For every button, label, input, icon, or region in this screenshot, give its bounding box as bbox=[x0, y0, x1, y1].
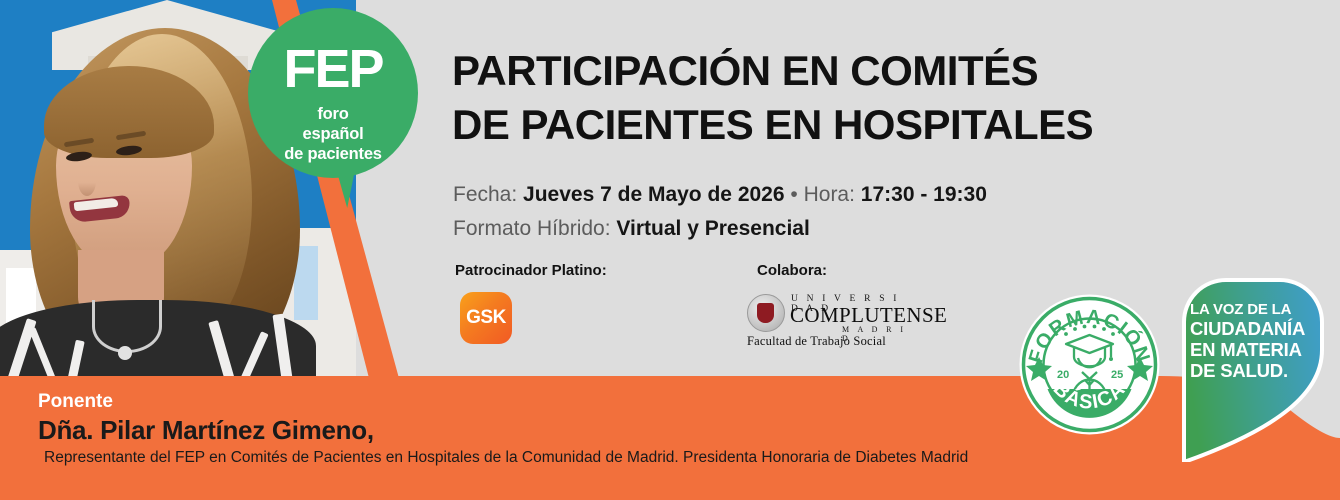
blouse-stripe bbox=[29, 327, 59, 382]
fep-tagline-line1: foro bbox=[248, 104, 418, 124]
speaker-name: Dña. Pilar Martínez Gimeno, bbox=[38, 413, 1138, 448]
gsk-logo: GSK bbox=[460, 292, 512, 344]
format-label: Formato Híbrido: bbox=[453, 217, 611, 240]
date-label: Fecha: bbox=[453, 183, 517, 206]
event-format-row: Formato Híbrido: Virtual y Presencial bbox=[453, 212, 1093, 246]
nose bbox=[78, 166, 96, 196]
speaker-info: Ponente Dña. Pilar Martínez Gimeno, Repr… bbox=[38, 392, 1138, 468]
fep-tagline-line3: de pacientes bbox=[248, 144, 418, 164]
format-value: Virtual y Presencial bbox=[616, 217, 809, 240]
university-seal-icon bbox=[747, 294, 785, 332]
event-meta: Fecha: Jueves 7 de Mayo de 2026 • Hora: … bbox=[453, 178, 1093, 246]
badge-year-right: 25 bbox=[1111, 369, 1123, 381]
voz-ciudadania-badge: La voz de la ciudadanía en materia de sa… bbox=[1176, 276, 1328, 462]
blouse-stripe bbox=[208, 320, 237, 382]
time-value: 17:30 - 19:30 bbox=[861, 183, 987, 206]
fep-wordmark: FEP bbox=[248, 42, 418, 96]
blouse-stripe bbox=[235, 331, 268, 382]
speaker-role-label: Ponente bbox=[38, 392, 1138, 413]
title-line-2: de pacientes en hospitales bbox=[452, 98, 1152, 152]
voz-line-4: de salud. bbox=[1190, 361, 1318, 382]
meta-separator: • bbox=[790, 183, 797, 206]
collaborator-label: Colabora: bbox=[757, 262, 827, 279]
platinum-sponsor-label: Patrocinador Platino: bbox=[455, 262, 607, 279]
formacion-basica-badge: 20 25 FORMACIÓN BÁSICA bbox=[1019, 294, 1160, 435]
speaker-description: Representante del FEP en Comités de Paci… bbox=[38, 448, 1138, 468]
date-value: Jueves 7 de Mayo de 2026 bbox=[523, 183, 785, 206]
fep-tagline-line2: español bbox=[248, 124, 418, 144]
voz-text-block: La voz de la ciudadanía en materia de sa… bbox=[1190, 302, 1318, 382]
page-title: Participación en comités de pacientes en… bbox=[452, 44, 1152, 152]
voz-line-2: ciudadanía bbox=[1190, 319, 1318, 340]
event-banner: FEP foro español de pacientes Participac… bbox=[0, 0, 1340, 500]
universidad-complutense-logo: U N I V E R S I D A D COMPLUTENSE M A D … bbox=[747, 292, 907, 348]
voz-line-3: en materia bbox=[1190, 340, 1318, 361]
time-label: Hora: bbox=[804, 183, 855, 206]
gsk-wordmark: GSK bbox=[460, 292, 512, 344]
ucm-facultad-text: Facultad de Trabajo Social bbox=[747, 334, 886, 349]
voz-line-1: La voz de la bbox=[1190, 302, 1318, 319]
necklace bbox=[92, 300, 162, 353]
event-datetime-row: Fecha: Jueves 7 de Mayo de 2026 • Hora: … bbox=[453, 178, 1093, 212]
fep-tagline: foro español de pacientes bbox=[248, 104, 418, 164]
title-line-1: Participación en comités bbox=[452, 44, 1152, 98]
blouse-stripe bbox=[272, 314, 294, 382]
fep-logo-bubble: FEP foro español de pacientes bbox=[248, 8, 418, 204]
necklace-pendant bbox=[118, 346, 132, 360]
